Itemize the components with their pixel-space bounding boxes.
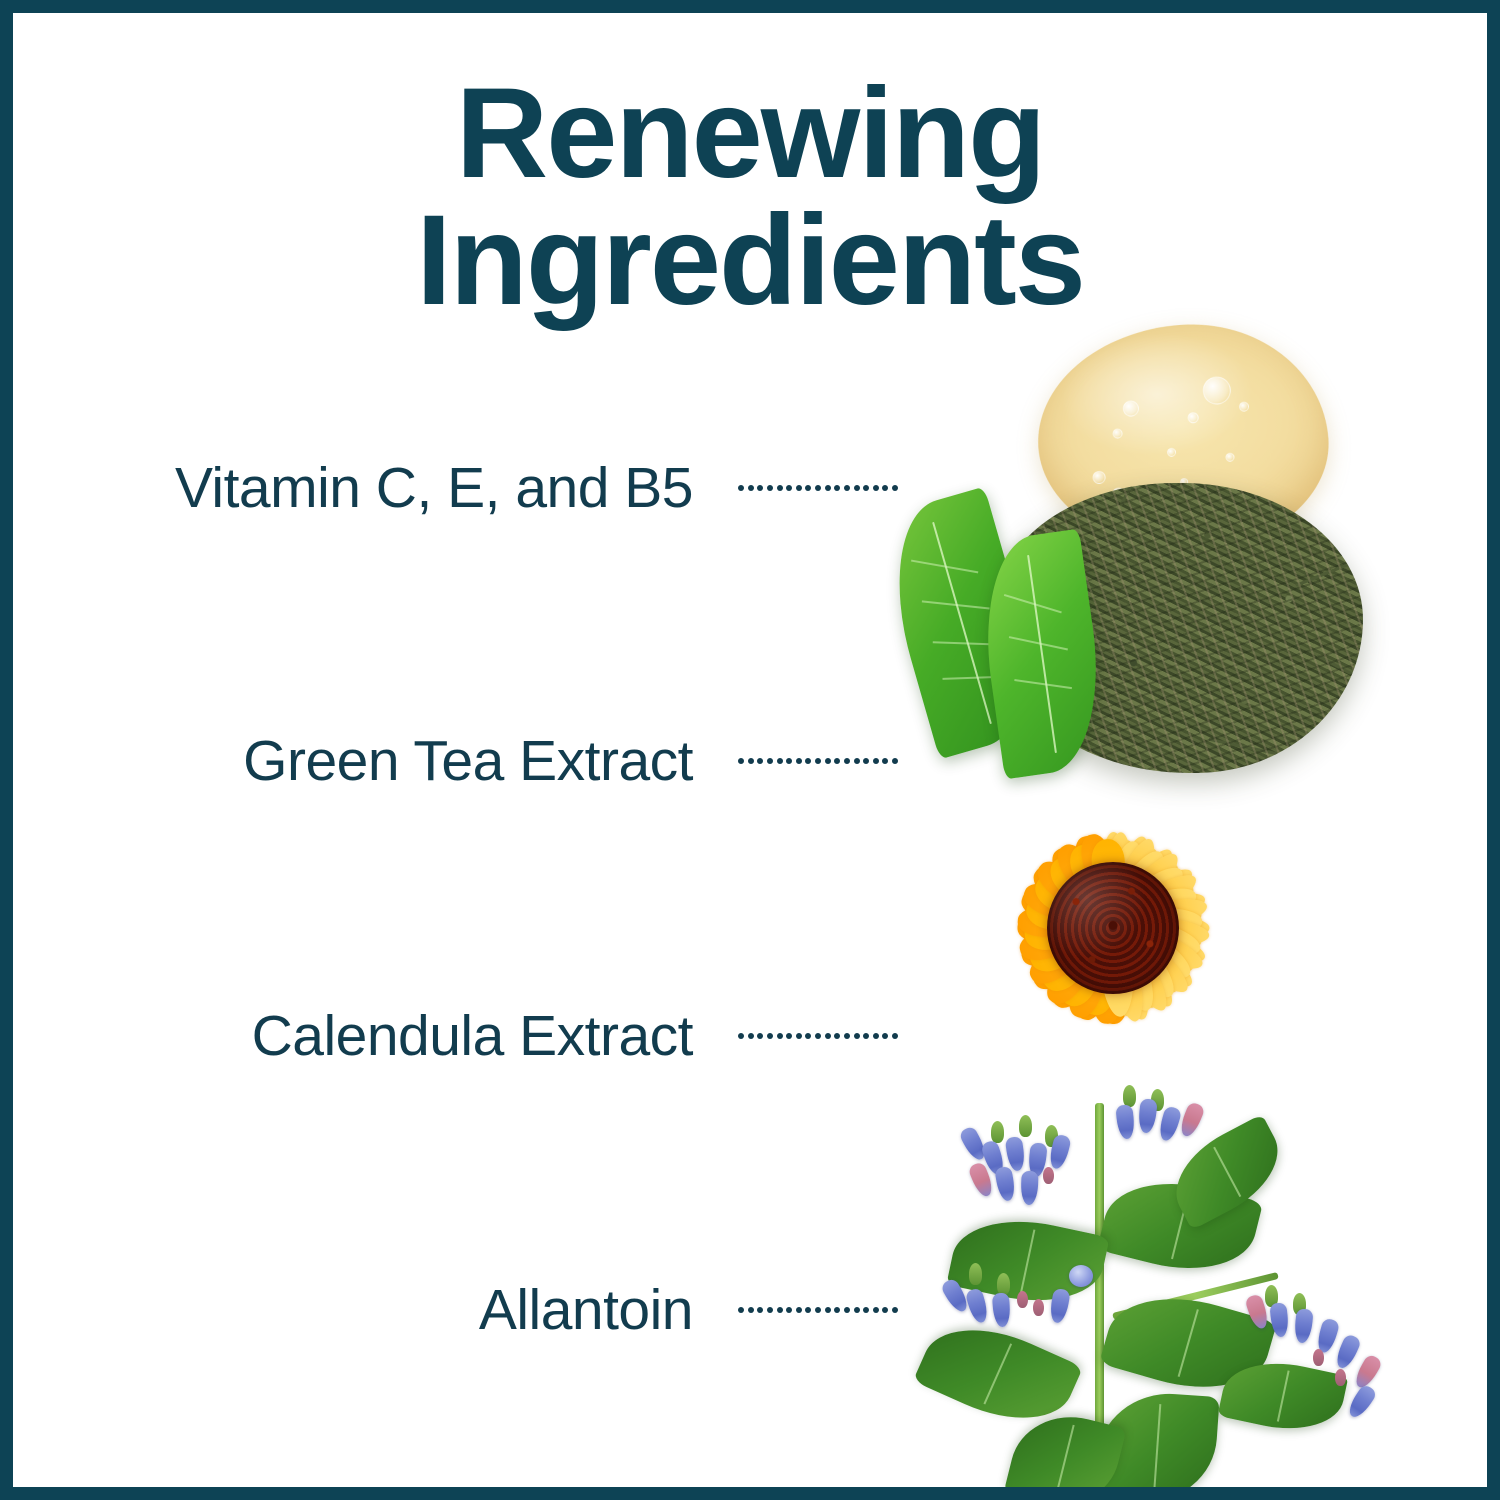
list-item: Allantoin bbox=[13, 1275, 903, 1345]
ingredient-label: Allantoin bbox=[479, 1282, 693, 1339]
flower-center bbox=[1047, 862, 1179, 994]
ingredient-artwork-column bbox=[873, 303, 1493, 1500]
list-item: Calendula Extract bbox=[13, 1001, 903, 1071]
ingredient-label: Calendula Extract bbox=[252, 1008, 693, 1065]
list-item: Green Tea Extract bbox=[13, 726, 903, 796]
ingredient-label: Green Tea Extract bbox=[243, 733, 693, 790]
ingredient-label: Vitamin C, E, and B5 bbox=[175, 460, 693, 517]
list-item: Vitamin C, E, and B5 bbox=[13, 453, 903, 523]
page-title: Renewing Ingredients bbox=[13, 71, 1487, 324]
ingredients-card: Renewing Ingredients Vitamin C, E, and B… bbox=[0, 0, 1500, 1500]
comfrey-plant-image bbox=[873, 1063, 1493, 1500]
